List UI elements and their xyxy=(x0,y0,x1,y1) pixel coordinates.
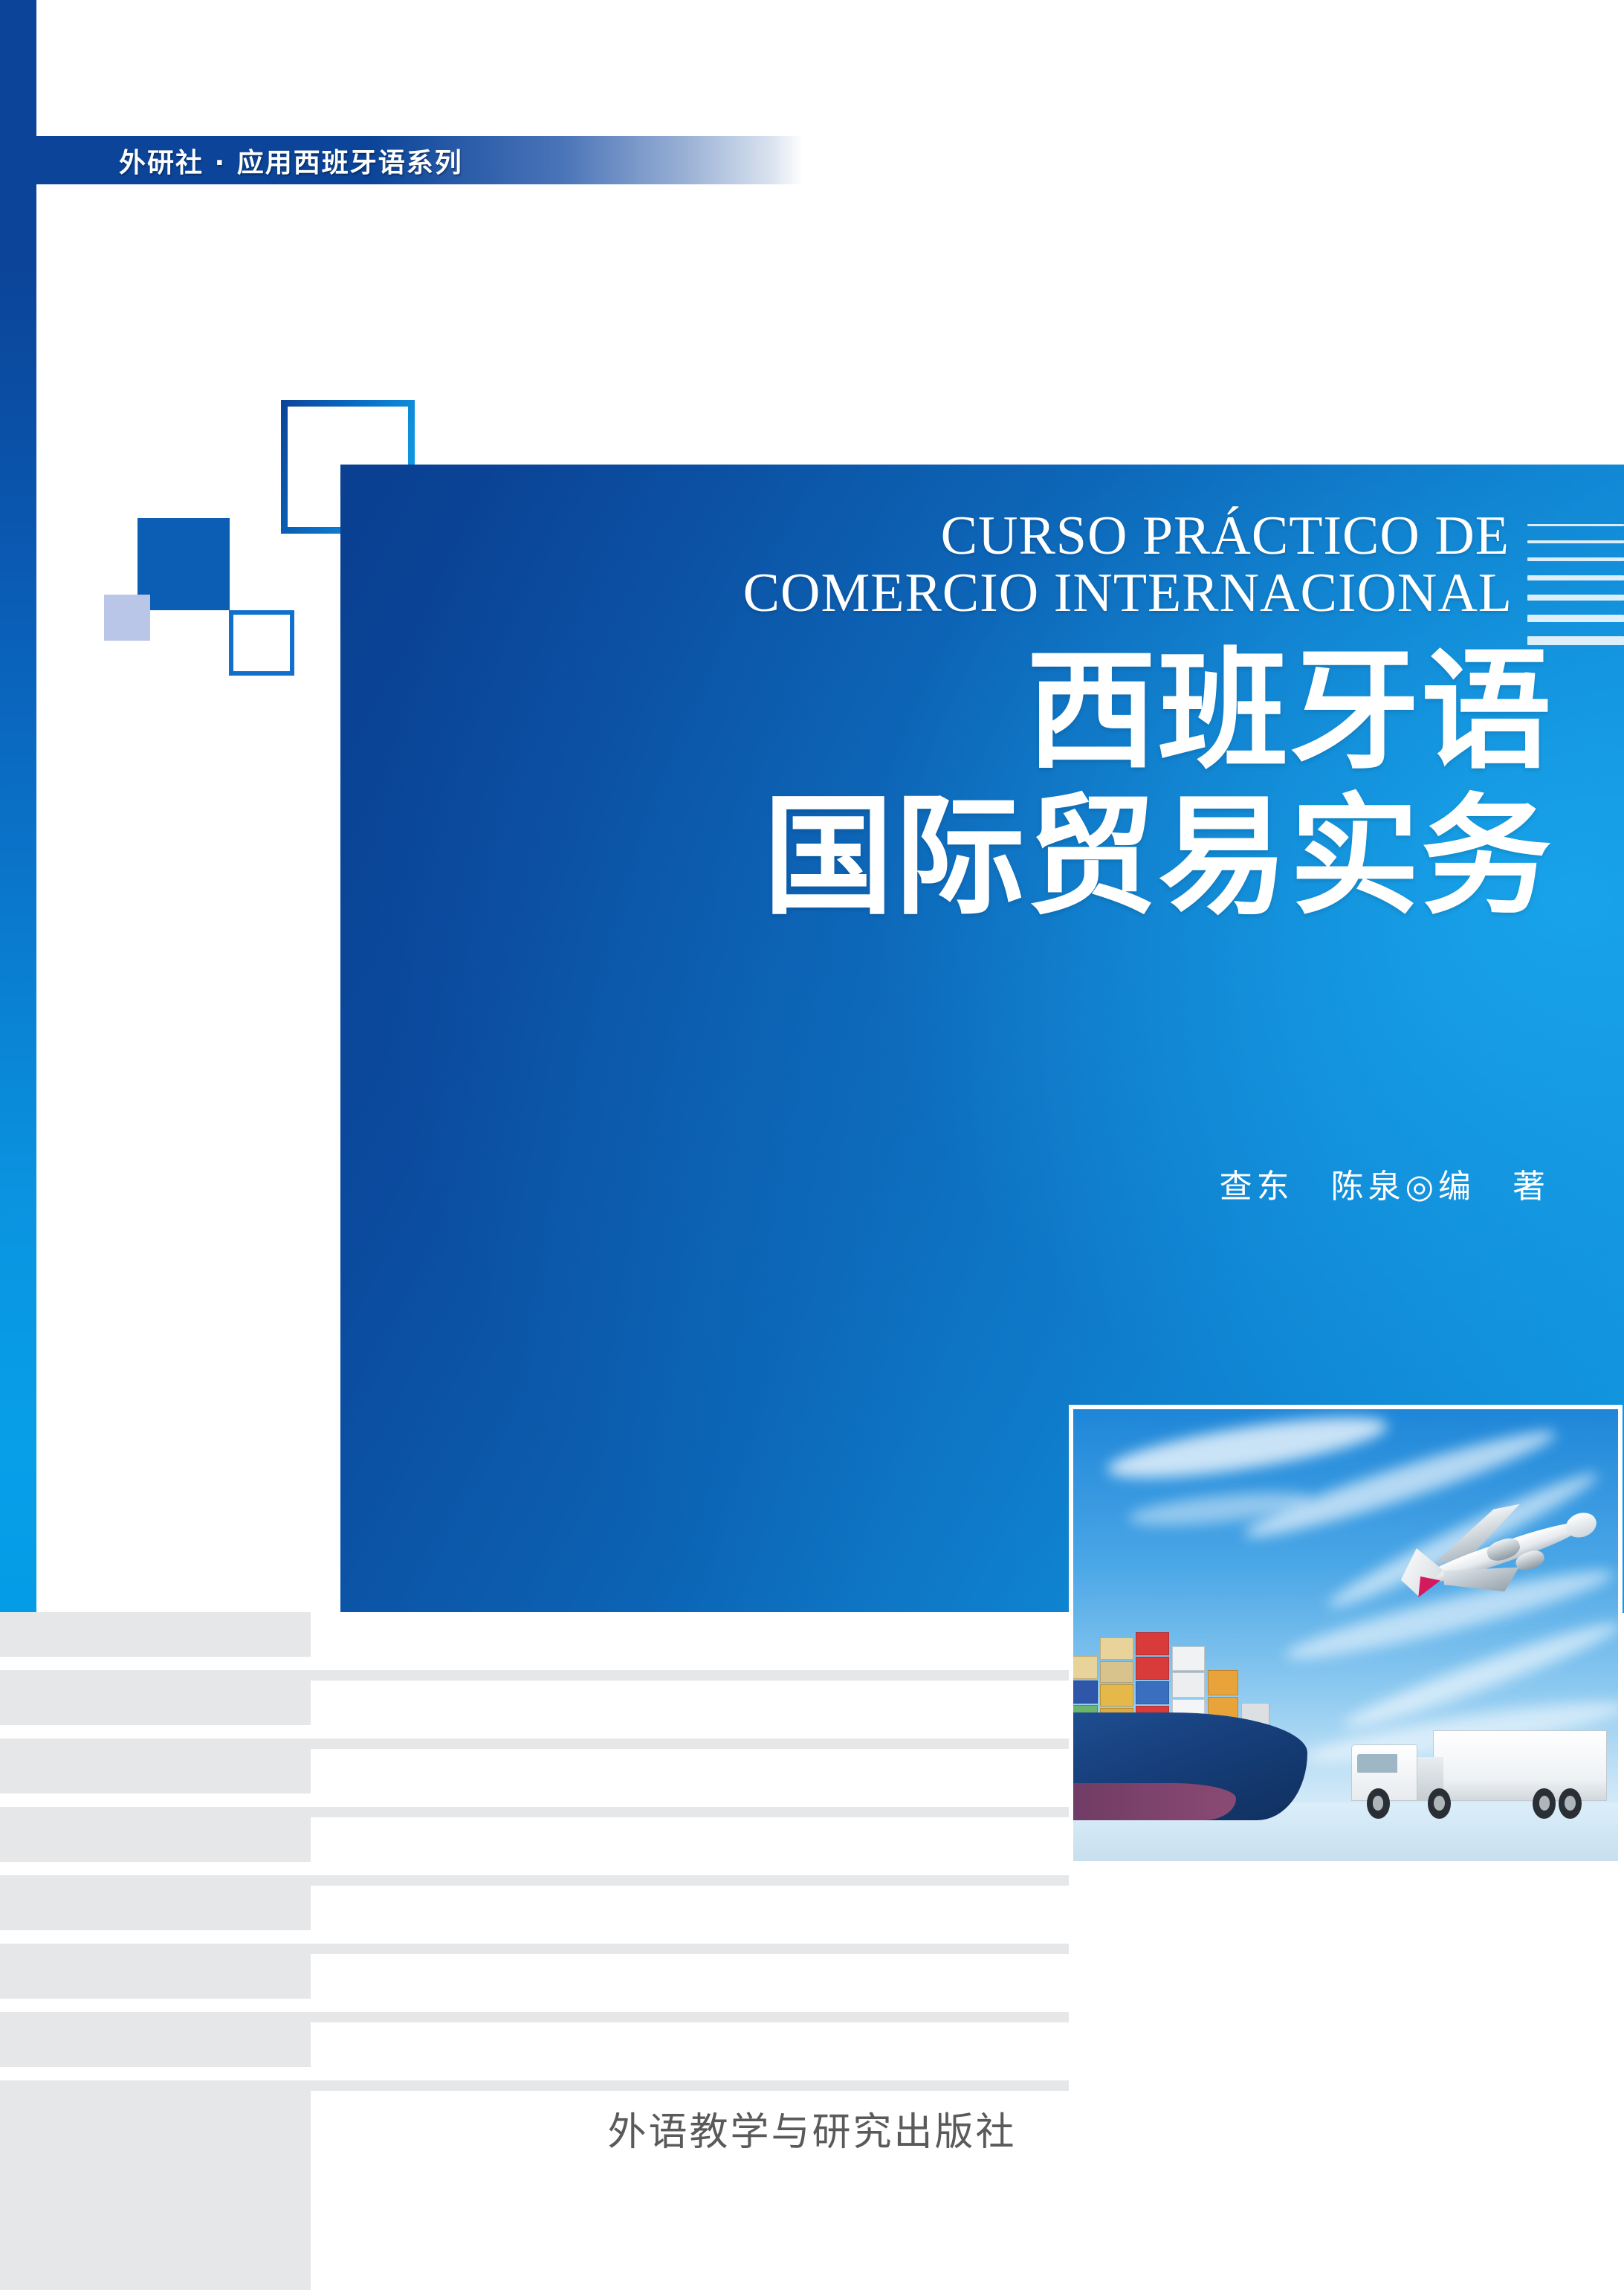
container-ship-icon xyxy=(1073,1585,1307,1820)
chinese-title-line-2: 国际贸易实务 xyxy=(340,785,1553,931)
bottom-right-white-area xyxy=(1069,1866,1624,2290)
latin-title: CURSO PRÁCTICO DE COMERCIO INTERNACIONAL xyxy=(340,508,1513,622)
stripe-block-left xyxy=(0,1612,311,2290)
book-cover: 外研社 · 应用西班牙语系列 CURSO PRÁCTICO DE COMERCI… xyxy=(0,0,1624,2290)
decorative-square-pale xyxy=(104,595,150,641)
decorative-square-outline-small xyxy=(229,610,294,676)
left-spine-bar xyxy=(0,0,36,1612)
latin-title-line-1: CURSO PRÁCTICO DE xyxy=(340,508,1513,565)
author-line: 查东 陈泉◎编 著 xyxy=(340,1159,1550,1207)
series-banner-label: 外研社 · 应用西班牙语系列 xyxy=(119,140,463,181)
chinese-title-line-1: 西班牙语 xyxy=(340,639,1553,785)
decorative-square-filled-medium xyxy=(138,518,230,610)
cover-photo-frame xyxy=(1069,1405,1623,1866)
publisher-name: 外语教学与研究出版社 xyxy=(0,2100,1624,2156)
latin-title-line-2: COMERCIO INTERNACIONAL xyxy=(340,565,1513,622)
chinese-title: 西班牙语 国际贸易实务 xyxy=(340,639,1553,931)
truck-icon xyxy=(1351,1730,1608,1821)
stripe-block-middle xyxy=(311,1612,1069,2290)
logistics-photo xyxy=(1073,1409,1618,1861)
